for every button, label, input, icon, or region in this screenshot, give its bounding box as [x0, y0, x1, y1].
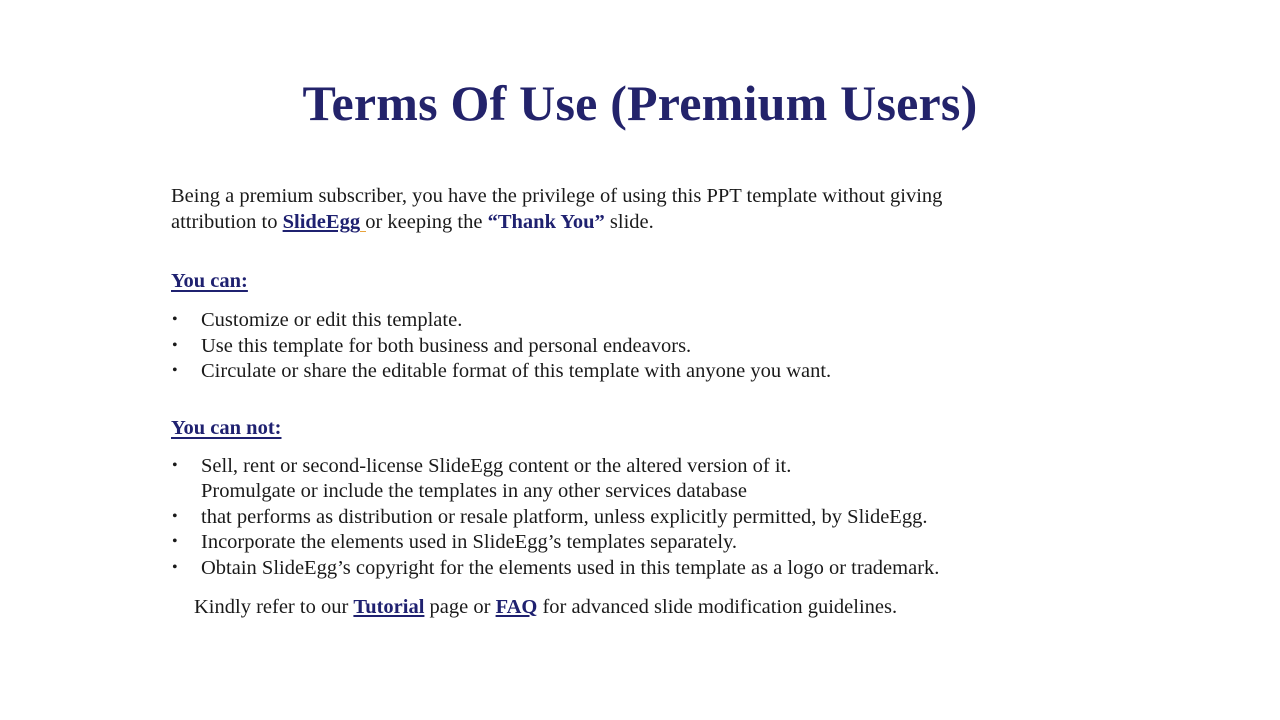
list-item: Use this template for both business and …: [171, 334, 1171, 360]
list-item: Incorporate the elements used in SlideEg…: [171, 530, 1171, 556]
list-item-text: Sell, rent or second-license SlideEgg co…: [201, 454, 1171, 480]
list-item: Customize or edit this template.: [171, 308, 1171, 334]
intro-paragraph: Being a premium subscriber, you have the…: [171, 183, 961, 235]
intro-text-part3: slide.: [605, 211, 654, 233]
list-item: Obtain SlideEgg’s copyright for the elem…: [171, 556, 1171, 582]
thank-you-emphasis: “Thank You”: [488, 211, 605, 233]
you-can-not-heading: You can not:: [171, 415, 282, 441]
intro-text-part2: or keeping the: [360, 211, 488, 233]
list-item-text: Incorporate the elements used in SlideEg…: [201, 531, 737, 553]
list-item-text: that performs as distribution or resale …: [201, 506, 927, 528]
list-item-text: Circulate or share the editable format o…: [201, 360, 831, 382]
footer-text-part3: for advanced slide modification guidelin…: [537, 596, 897, 618]
page-title: Terms Of Use (Premium Users): [0, 70, 1280, 136]
you-can-list: Customize or edit this template. Use thi…: [171, 308, 1171, 385]
slide-canvas: Terms Of Use (Premium Users) Being a pre…: [0, 0, 1280, 720]
list-item-text-wrap: Promulgate or include the templates in a…: [201, 479, 1171, 505]
slideegg-link[interactable]: SlideEgg: [283, 211, 360, 233]
list-item: Sell, rent or second-license SlideEgg co…: [171, 454, 1171, 505]
you-can-heading-row: You can:: [171, 268, 1171, 294]
list-item-text: Customize or edit this template.: [201, 309, 462, 331]
list-item: that performs as distribution or resale …: [171, 505, 1171, 531]
footer-text-part2: page or: [424, 596, 495, 618]
list-item-text: Use this template for both business and …: [201, 335, 691, 357]
footer-text-part1: Kindly refer to our: [194, 596, 353, 618]
you-can-not-heading-row: You can not:: [171, 415, 1171, 441]
tutorial-link[interactable]: Tutorial: [353, 596, 424, 618]
list-item: Circulate or share the editable format o…: [171, 359, 1171, 385]
list-item-text: Obtain SlideEgg’s copyright for the elem…: [201, 557, 939, 579]
body-content: Being a premium subscriber, you have the…: [171, 183, 1171, 581]
you-can-not-list: Sell, rent or second-license SlideEgg co…: [171, 454, 1171, 582]
faq-link[interactable]: FAQ: [496, 596, 538, 618]
you-can-heading: You can:: [171, 268, 248, 294]
footer-note: Kindly refer to our Tutorial page or FAQ…: [194, 594, 897, 620]
